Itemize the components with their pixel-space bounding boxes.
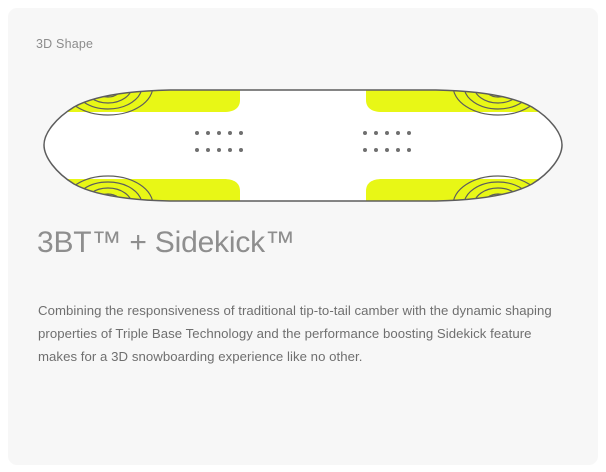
accent-zone-top-left [28,78,240,112]
accent-zone-top-right [366,78,578,112]
snowboard-diagram [28,78,578,213]
accent-zone-bottom-right [366,179,578,213]
card-eyebrow-label: 3D Shape [36,36,93,52]
accent-zone-bottom-left [28,179,240,213]
feature-card: 3D Shape [8,8,598,465]
feature-description: Combining the responsiveness of traditio… [38,299,568,368]
snowboard-shape-svg [28,78,578,213]
feature-headline: 3BT™ + Sidekick™ [37,224,295,262]
board-base-fill [28,78,578,213]
